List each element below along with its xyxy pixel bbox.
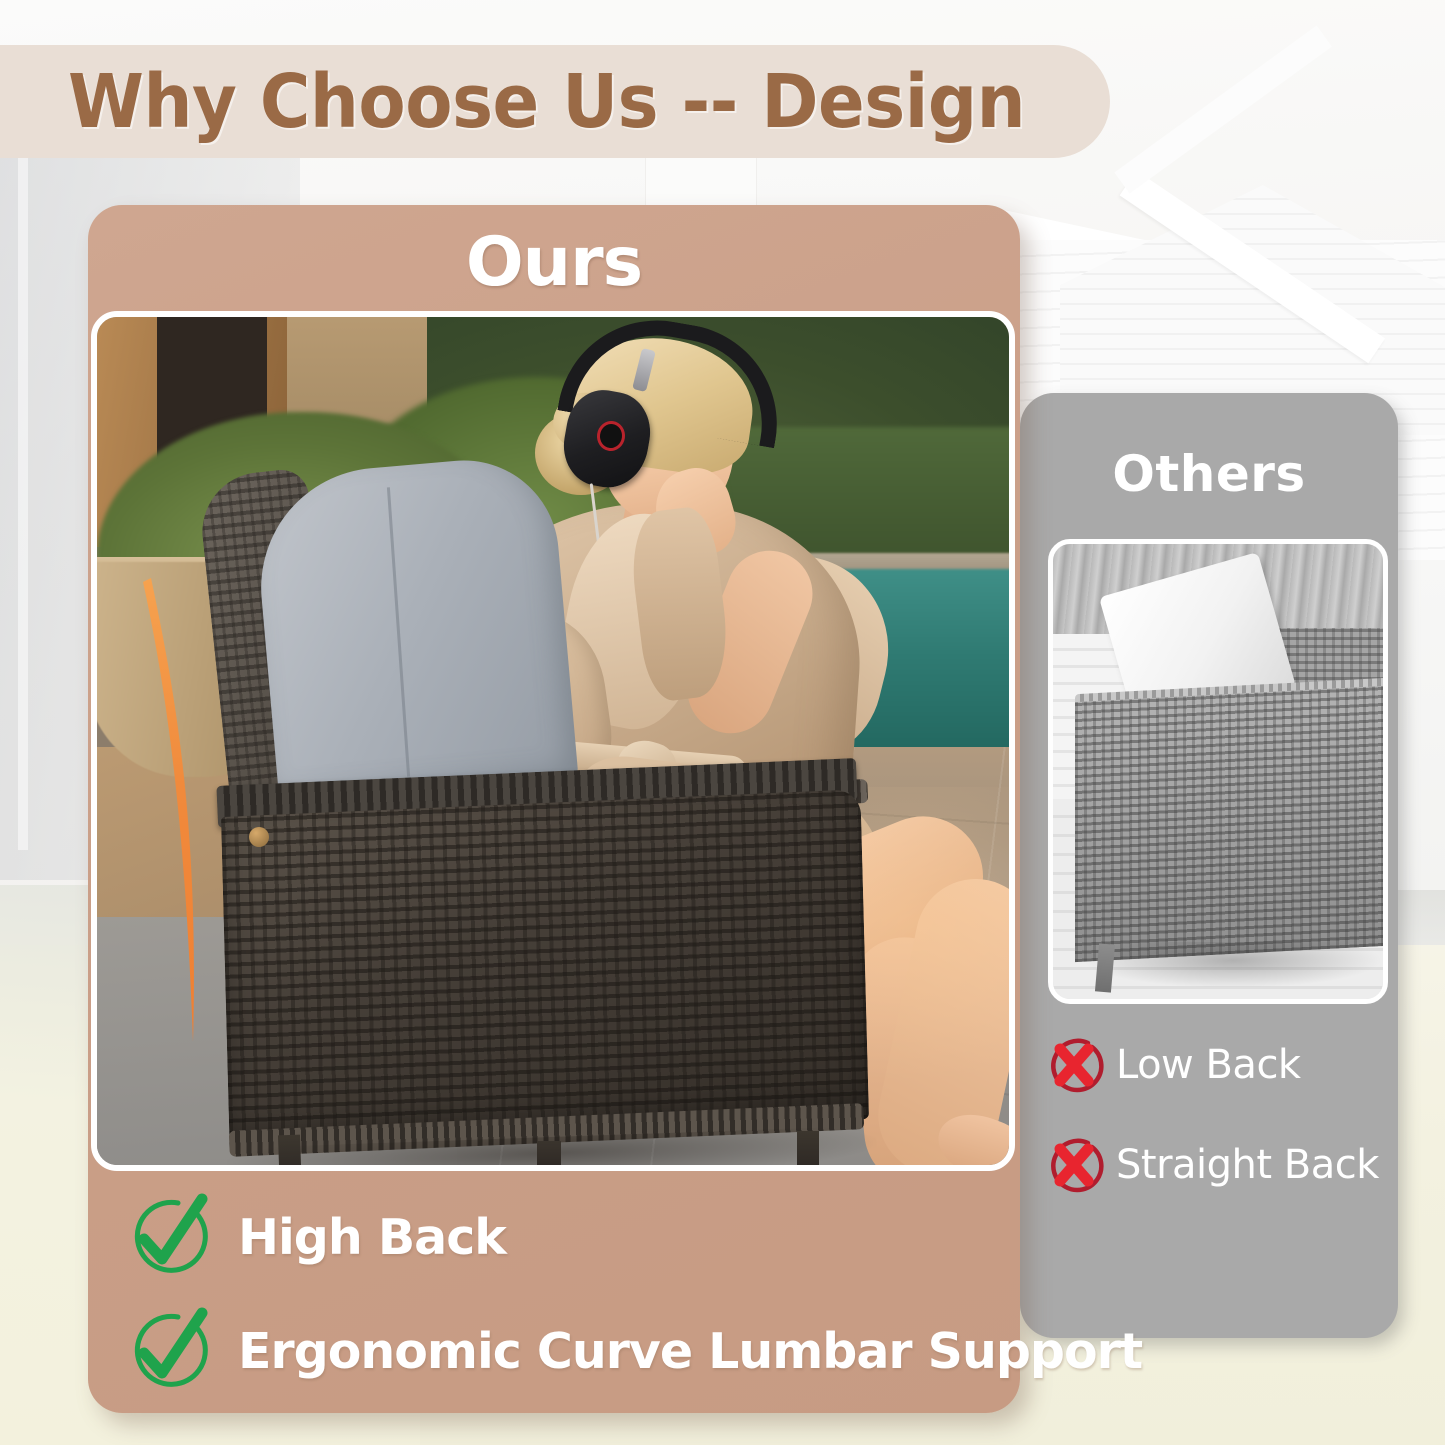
others-title: Others	[1020, 445, 1398, 503]
others-sofa-shadow	[1083, 942, 1383, 988]
ours-photo	[91, 311, 1015, 1171]
others-bullet-list: Low Back Straight Back	[1042, 1033, 1398, 1233]
others-bullet-item: Low Back	[1042, 1033, 1398, 1097]
sofa-back-cushion	[251, 453, 579, 808]
check-circle-icon	[124, 1307, 212, 1395]
orange-curve-accent	[141, 572, 227, 1052]
check-circle-icon	[124, 1193, 212, 1281]
others-bullet-label: Straight Back	[1116, 1142, 1379, 1188]
sofa-leg	[537, 1141, 561, 1171]
sofa-wicker-arm-panel	[221, 789, 869, 1147]
x-circle-icon	[1042, 1133, 1106, 1197]
ours-panel: Ours	[88, 205, 1020, 1413]
x-circle-icon	[1042, 1033, 1106, 1097]
others-panel: Others Low Back	[1020, 393, 1398, 1338]
others-sofa-arm	[1075, 686, 1385, 962]
ours-bullet-item: Ergonomic Curve Lumbar Support	[124, 1307, 1004, 1395]
ours-bullet-label: Ergonomic Curve Lumbar Support	[238, 1323, 1142, 1380]
others-photo	[1048, 539, 1388, 1004]
sofa-leg	[797, 1131, 819, 1171]
background-left-column	[18, 150, 28, 850]
ours-bullet-label: High Back	[238, 1209, 506, 1266]
sofa-leg	[278, 1135, 302, 1171]
sofa-brass-bolt	[249, 827, 269, 847]
ours-bullet-list: High Back Ergonomic Curve Lumbar Support	[124, 1193, 1004, 1421]
title-banner: Why Choose Us -- Design	[0, 45, 1110, 158]
ours-title: Ours	[88, 223, 1020, 302]
others-bullet-item: Straight Back	[1042, 1133, 1398, 1197]
others-bullet-label: Low Back	[1116, 1042, 1301, 1088]
ours-bullet-item: High Back	[124, 1193, 1004, 1281]
page-title: Why Choose Us -- Design	[68, 59, 1025, 145]
